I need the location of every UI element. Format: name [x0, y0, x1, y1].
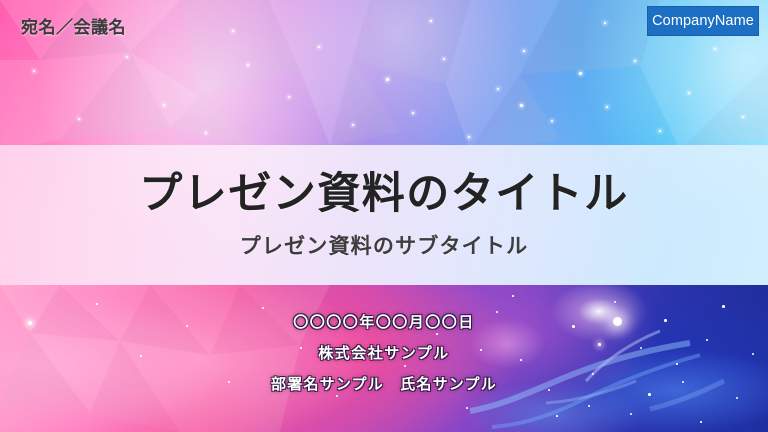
- footer-department-name: 部署名サンプル 氏名サンプル: [271, 377, 497, 392]
- footer-text-block: 〇〇〇〇年〇〇月〇〇日 株式会社サンプル 部署名サンプル 氏名サンプル: [0, 285, 768, 432]
- presentation-title-slide: 宛名／会議名 CompanyName プレゼン資料のタイトル プレゼン資料のサブ…: [0, 0, 768, 432]
- addressee-meeting-label: 宛名／会議名: [21, 13, 126, 38]
- footer-company: 株式会社サンプル: [318, 346, 450, 361]
- company-logo-text: CompanyName: [652, 13, 754, 29]
- company-logo[interactable]: CompanyName: [647, 6, 759, 36]
- title-band: プレゼン資料のタイトル プレゼン資料のサブタイトル: [0, 145, 768, 285]
- page-subtitle: プレゼン資料のサブタイトル: [240, 236, 529, 257]
- page-title: プレゼン資料のタイトル: [139, 173, 629, 216]
- footer-date: 〇〇〇〇年〇〇月〇〇日: [293, 315, 475, 330]
